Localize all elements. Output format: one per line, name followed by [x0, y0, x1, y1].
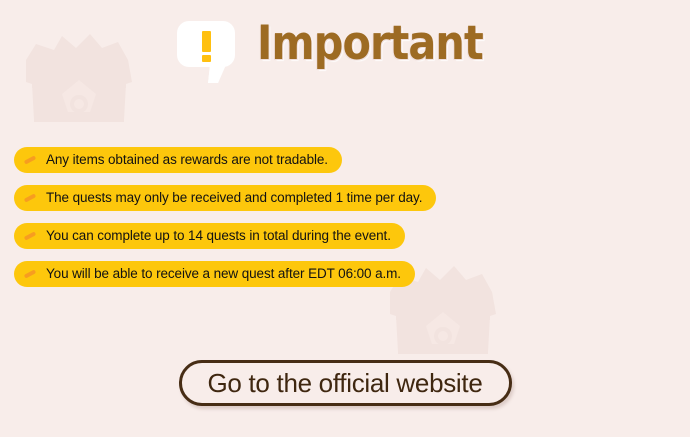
- page-title: Important: [257, 20, 483, 67]
- notice-text: Any items obtained as rewards are not tr…: [46, 153, 328, 167]
- list-item: You will be able to receive a new quest …: [14, 261, 674, 299]
- go-to-official-website-button[interactable]: Go to the official website: [179, 360, 512, 406]
- notice-pill: The quests may only be received and comp…: [14, 185, 436, 211]
- notice-pill: You will be able to receive a new quest …: [14, 261, 415, 287]
- dash-bullet-icon: [24, 193, 36, 202]
- list-item: Any items obtained as rewards are not tr…: [14, 147, 674, 185]
- important-notice-panel: Important Any items obtained as rewards …: [0, 0, 690, 437]
- notice-text: The quests may only be received and comp…: [46, 191, 422, 205]
- list-item: You can complete up to 14 quests in tota…: [14, 223, 674, 261]
- cta-container: Go to the official website: [0, 360, 690, 406]
- panel-header: Important: [0, 14, 690, 92]
- dash-bullet-icon: [24, 269, 36, 278]
- notice-pill: Any items obtained as rewards are not tr…: [14, 147, 342, 173]
- exclamation-bar: [202, 31, 211, 52]
- dash-bullet-icon: [24, 231, 36, 240]
- dash-bullet-icon: [24, 155, 36, 164]
- notice-pill: You can complete up to 14 quests in tota…: [14, 223, 405, 249]
- notice-text: You will be able to receive a new quest …: [46, 267, 401, 281]
- notice-text: You can complete up to 14 quests in tota…: [46, 229, 391, 243]
- speech-bubble-tail: [208, 65, 226, 83]
- list-item: The quests may only be received and comp…: [14, 185, 674, 223]
- exclamation-dot: [202, 55, 211, 62]
- exclamation-speech-bubble-icon: [177, 21, 239, 85]
- notice-list: Any items obtained as rewards are not tr…: [14, 147, 674, 299]
